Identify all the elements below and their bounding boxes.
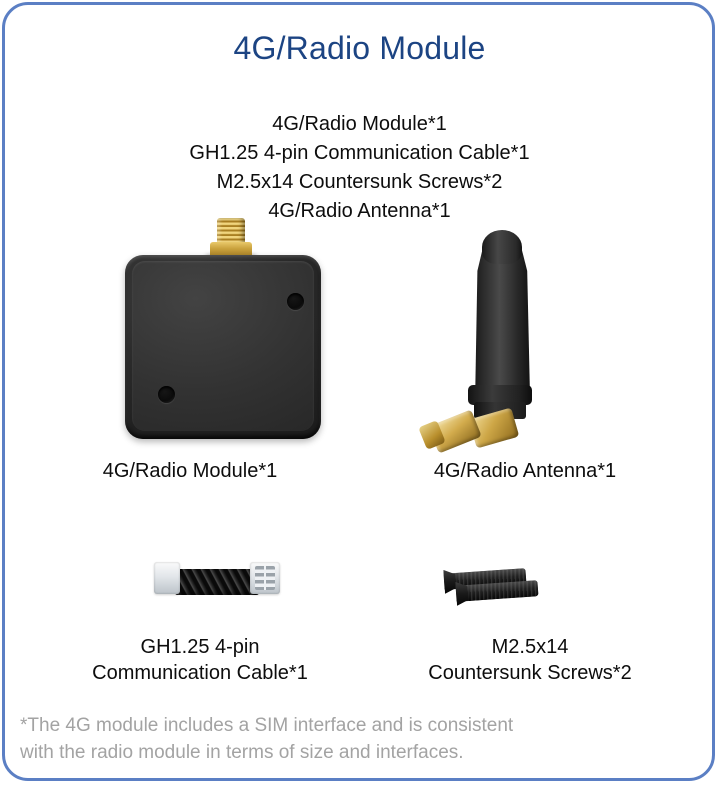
contents-list-item: M2.5x14 Countersunk Screws*2 [0, 168, 719, 197]
antenna-tip [482, 230, 522, 264]
footnote-line1: *The 4G module includes a SIM interface … [20, 712, 680, 739]
cable-twisted-wires [174, 569, 260, 595]
cable-connector-right [250, 562, 280, 594]
contents-list-item: 4G/Radio Antenna*1 [0, 197, 719, 226]
module-face [132, 261, 314, 431]
product-contents-card: 4G/Radio Module 4G/Radio Module*1 GH1.25… [0, 0, 719, 785]
module-mount-hole-bottom-left [158, 386, 175, 403]
page-title: 4G/Radio Module [0, 30, 719, 67]
cable-caption-line2: Communication Cable*1 [50, 660, 350, 686]
cable-product-image [140, 550, 320, 630]
screws-product-image [420, 555, 580, 625]
module-mount-hole-top-right [287, 293, 304, 310]
package-contents-list: 4G/Radio Module*1 GH1.25 4-pin Communica… [0, 110, 719, 226]
cable-caption: GH1.25 4-pin Communication Cable*1 [50, 634, 350, 686]
contents-list-item: GH1.25 4-pin Communication Cable*1 [0, 139, 719, 168]
antenna-product-image [420, 225, 600, 450]
cable-connector-left [154, 562, 180, 594]
contents-list-item: 4G/Radio Module*1 [0, 110, 719, 139]
footnote-line2: with the radio module in terms of size a… [20, 739, 680, 766]
module-body [125, 255, 321, 439]
screws-caption-line2: Countersunk Screws*2 [380, 660, 680, 686]
cable-caption-line1: GH1.25 4-pin [50, 634, 350, 660]
module-product-image [110, 215, 340, 450]
footnote: *The 4G module includes a SIM interface … [20, 712, 680, 766]
screws-caption-line1: M2.5x14 [380, 634, 680, 660]
module-caption: 4G/Radio Module*1 [40, 458, 340, 484]
antenna-caption: 4G/Radio Antenna*1 [370, 458, 680, 484]
cable-connector-pins [255, 566, 275, 590]
sma-thread-icon [217, 218, 245, 245]
screws-caption: M2.5x14 Countersunk Screws*2 [380, 634, 680, 686]
